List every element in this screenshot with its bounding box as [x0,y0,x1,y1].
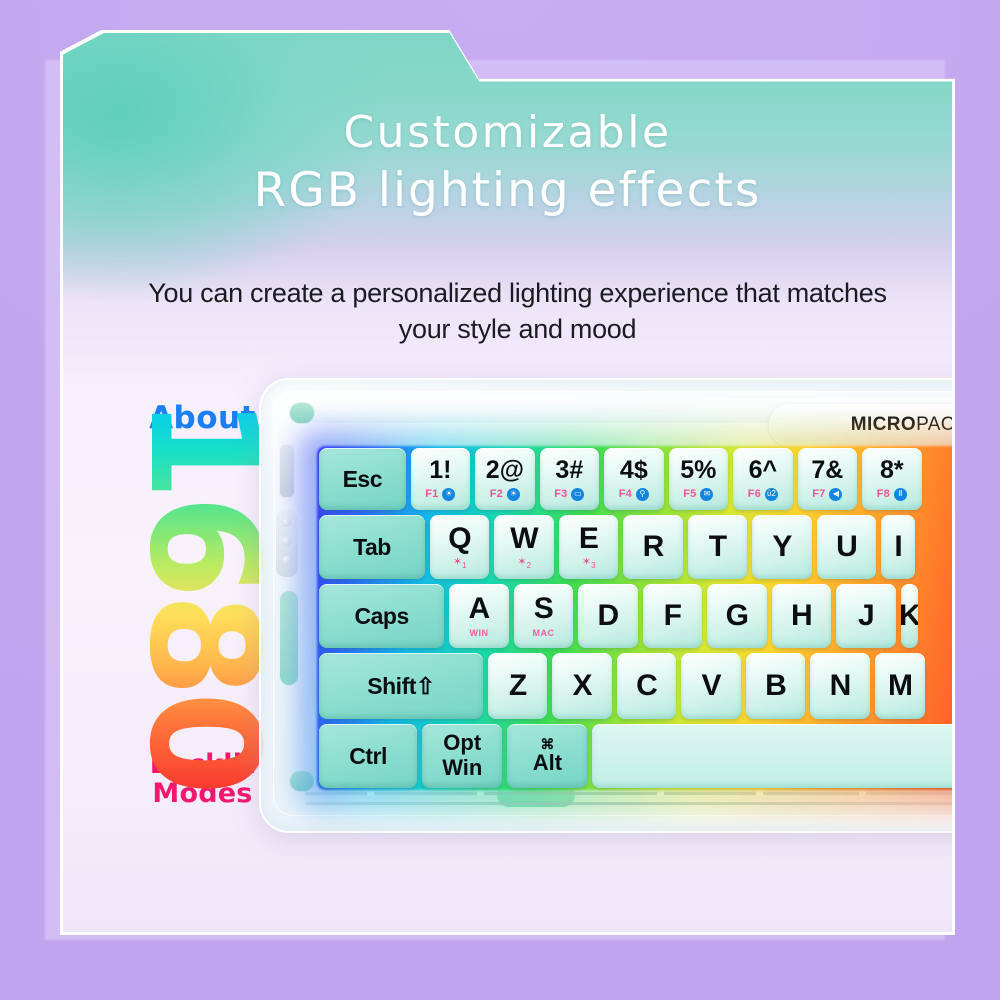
key-label: V [701,671,721,701]
brightness-icon: ☀ [507,488,520,501]
usb-port-component [279,444,295,498]
key-label: J [858,601,874,631]
keyboard-row-shift-row: Shift⇧ZXCVBNM [319,653,952,719]
fkey-label: F8 [877,489,890,500]
key-label: N [830,671,851,701]
key-ctrl[interactable]: Ctrl [319,724,417,788]
key-label-line: Win [442,756,482,781]
fkey-label: F3 [554,489,567,500]
key-label: 3# [555,458,583,483]
key-label: C [636,671,657,701]
page-title: Customizable RGB lighting effects [63,105,952,221]
keyboard-row-qwerty-row: TabQ✶1W✶2E✶3RTYUI [319,515,952,579]
keycap-grid: Esc1!F1☀2@F2☀3#F3▭4$F4⚲5%F5✉6^F6ὑ27&F7◀8… [319,448,952,788]
bluetooth-icon: ✶3 [582,557,596,570]
key-label: Esc [343,468,382,491]
key-label: A [468,594,489,624]
key-4[interactable]: 4$F4⚲ [604,448,664,510]
key-tab[interactable]: Tab [319,515,425,579]
key-8[interactable]: 8*F8Ⅱ [862,448,922,510]
key-label: OptWin [442,731,482,780]
key-function-sublabel: F4⚲ [619,488,649,501]
fkey-label: F2 [490,489,503,500]
key-q[interactable]: Q✶1 [430,515,490,579]
key-e[interactable]: E✶3 [559,515,619,579]
key-shift[interactable]: Shift⇧ [319,653,483,719]
key-label: Caps [355,605,409,628]
key-label: K [901,601,919,631]
key-label: X [572,671,592,701]
key-1[interactable]: 1!F1☀ [411,448,471,510]
key-alt[interactable]: ⌘Alt [507,724,587,788]
fkey-label: F1 [425,489,438,500]
key-label: Tab [353,536,391,559]
key-g[interactable]: G [707,584,767,648]
key-optwin[interactable]: OptWin [422,724,502,788]
key-label: I [894,532,902,562]
key-label: Z [509,671,527,701]
fkey-label: F5 [683,489,696,500]
key-space[interactable] [592,724,952,788]
key-function-sublabel: F7◀ [812,488,842,501]
key-3[interactable]: 3#F3▭ [540,448,600,510]
key-2[interactable]: 2@F2☀ [475,448,535,510]
key-j[interactable]: J [836,584,896,648]
key-h[interactable]: H [772,584,832,648]
key-os-sublabel: WIN [470,628,489,638]
key-m[interactable]: M [875,653,925,719]
key-function-sublabel: F2☀ [490,488,520,501]
screen-icon: ▭ [571,488,584,501]
key-k[interactable]: K [901,584,919,648]
key-label: B [765,671,786,701]
key-5[interactable]: 5%F5✉ [669,448,729,510]
key-label: G [726,601,749,631]
key-b[interactable]: B [746,653,806,719]
key-caps[interactable]: Caps [319,584,444,648]
page-subtitle: You can create a personalized lighting e… [143,276,892,348]
card-body: Customizable RGB lighting effects You ca… [63,33,952,932]
command-icon: ⌘ [533,737,562,751]
mail-icon: ✉ [700,488,713,501]
keyboard-row-function-row: Esc1!F1☀2@F2☀3#F3▭4$F4⚲5%F5✉6^F6ὑ27&F7◀8… [319,448,952,510]
bluetooth-icon: ✶1 [453,557,467,570]
key-label: U [836,532,857,562]
key-label: Ctrl [349,745,387,768]
headline-line-1: Customizable [63,105,952,161]
stat-number: 1680 [131,396,275,789]
key-label: T [709,532,727,562]
fkey-label: F6 [748,489,761,500]
key-n[interactable]: N [810,653,870,719]
key-label: E [579,524,599,554]
key-label: W [510,524,538,554]
key-a[interactable]: AWIN [449,584,509,648]
key-i[interactable]: I [881,515,915,579]
key-function-sublabel: F5✉ [683,488,713,501]
key-label-line: Opt [442,731,482,756]
key-label: Shift⇧ [367,675,434,698]
key-label: 8* [880,458,904,483]
key-esc[interactable]: Esc [319,448,406,510]
key-label: 5% [680,458,716,483]
key-label: M [888,671,913,701]
key-function-sublabel: F8Ⅱ [877,488,907,501]
lock-icon: ὑ2 [765,488,778,501]
key-function-sublabel: F6ὑ2 [748,488,778,501]
key-label: 1! [429,458,451,483]
key-d[interactable]: D [578,584,638,648]
key-6[interactable]: 6^F6ὑ2 [733,448,793,510]
case-foot-top-left [289,402,315,424]
search-icon: ⚲ [636,488,649,501]
bluetooth-icon: ✶2 [517,557,531,570]
switch-module-component [275,508,299,578]
key-function-sublabel: F1☀ [425,488,455,501]
fkey-label: F7 [812,489,825,500]
keyboard-row-bottom-row: CtrlOptWin⌘Alt [319,724,952,788]
key-label: Y [772,532,792,562]
key-function-sublabel: F3▭ [554,488,584,501]
key-f[interactable]: F [643,584,703,648]
key-label: Q [448,524,471,554]
key-u[interactable]: U [817,515,877,579]
key-v[interactable]: V [681,653,741,719]
key-label: 6^ [749,458,778,483]
brightness-icon: ☀ [442,488,455,501]
key-label: 7& [811,458,843,483]
key-label: F [664,601,682,631]
key-z[interactable]: Z [488,653,548,719]
pause-icon: Ⅱ [894,488,907,501]
key-label: R [643,532,664,562]
headline-line-2: RGB lighting effects [63,161,952,221]
keyboard-row-home-row: CapsAWINSMACDFGHJK [319,584,952,648]
prev-track-icon: ◀ [829,488,842,501]
key-x[interactable]: X [552,653,612,719]
key-s[interactable]: SMAC [514,584,574,648]
feature-card: Customizable RGB lighting effects You ca… [60,30,955,935]
key-label: ⌘Alt [533,737,562,776]
key-label: 4$ [620,458,648,483]
key-sublabel: Alt [533,751,562,776]
key-label: 2@ [486,458,524,483]
key-w[interactable]: W✶2 [494,515,554,579]
key-os-sublabel: MAC [533,628,555,638]
key-label: H [791,601,812,631]
key-c[interactable]: C [617,653,677,719]
keyboard-product-image: MICROPACK Esc1!F1☀2@F2☀3#F3▭4$F4⚲5%F5✉6^… [259,378,952,833]
battery-component [279,590,299,686]
key-r[interactable]: R [623,515,683,579]
key-7[interactable]: 7&F7◀ [798,448,858,510]
key-label: S [534,594,554,624]
key-t[interactable]: T [688,515,748,579]
key-label: D [597,601,618,631]
fkey-label: F4 [619,489,632,500]
key-y[interactable]: Y [752,515,812,579]
